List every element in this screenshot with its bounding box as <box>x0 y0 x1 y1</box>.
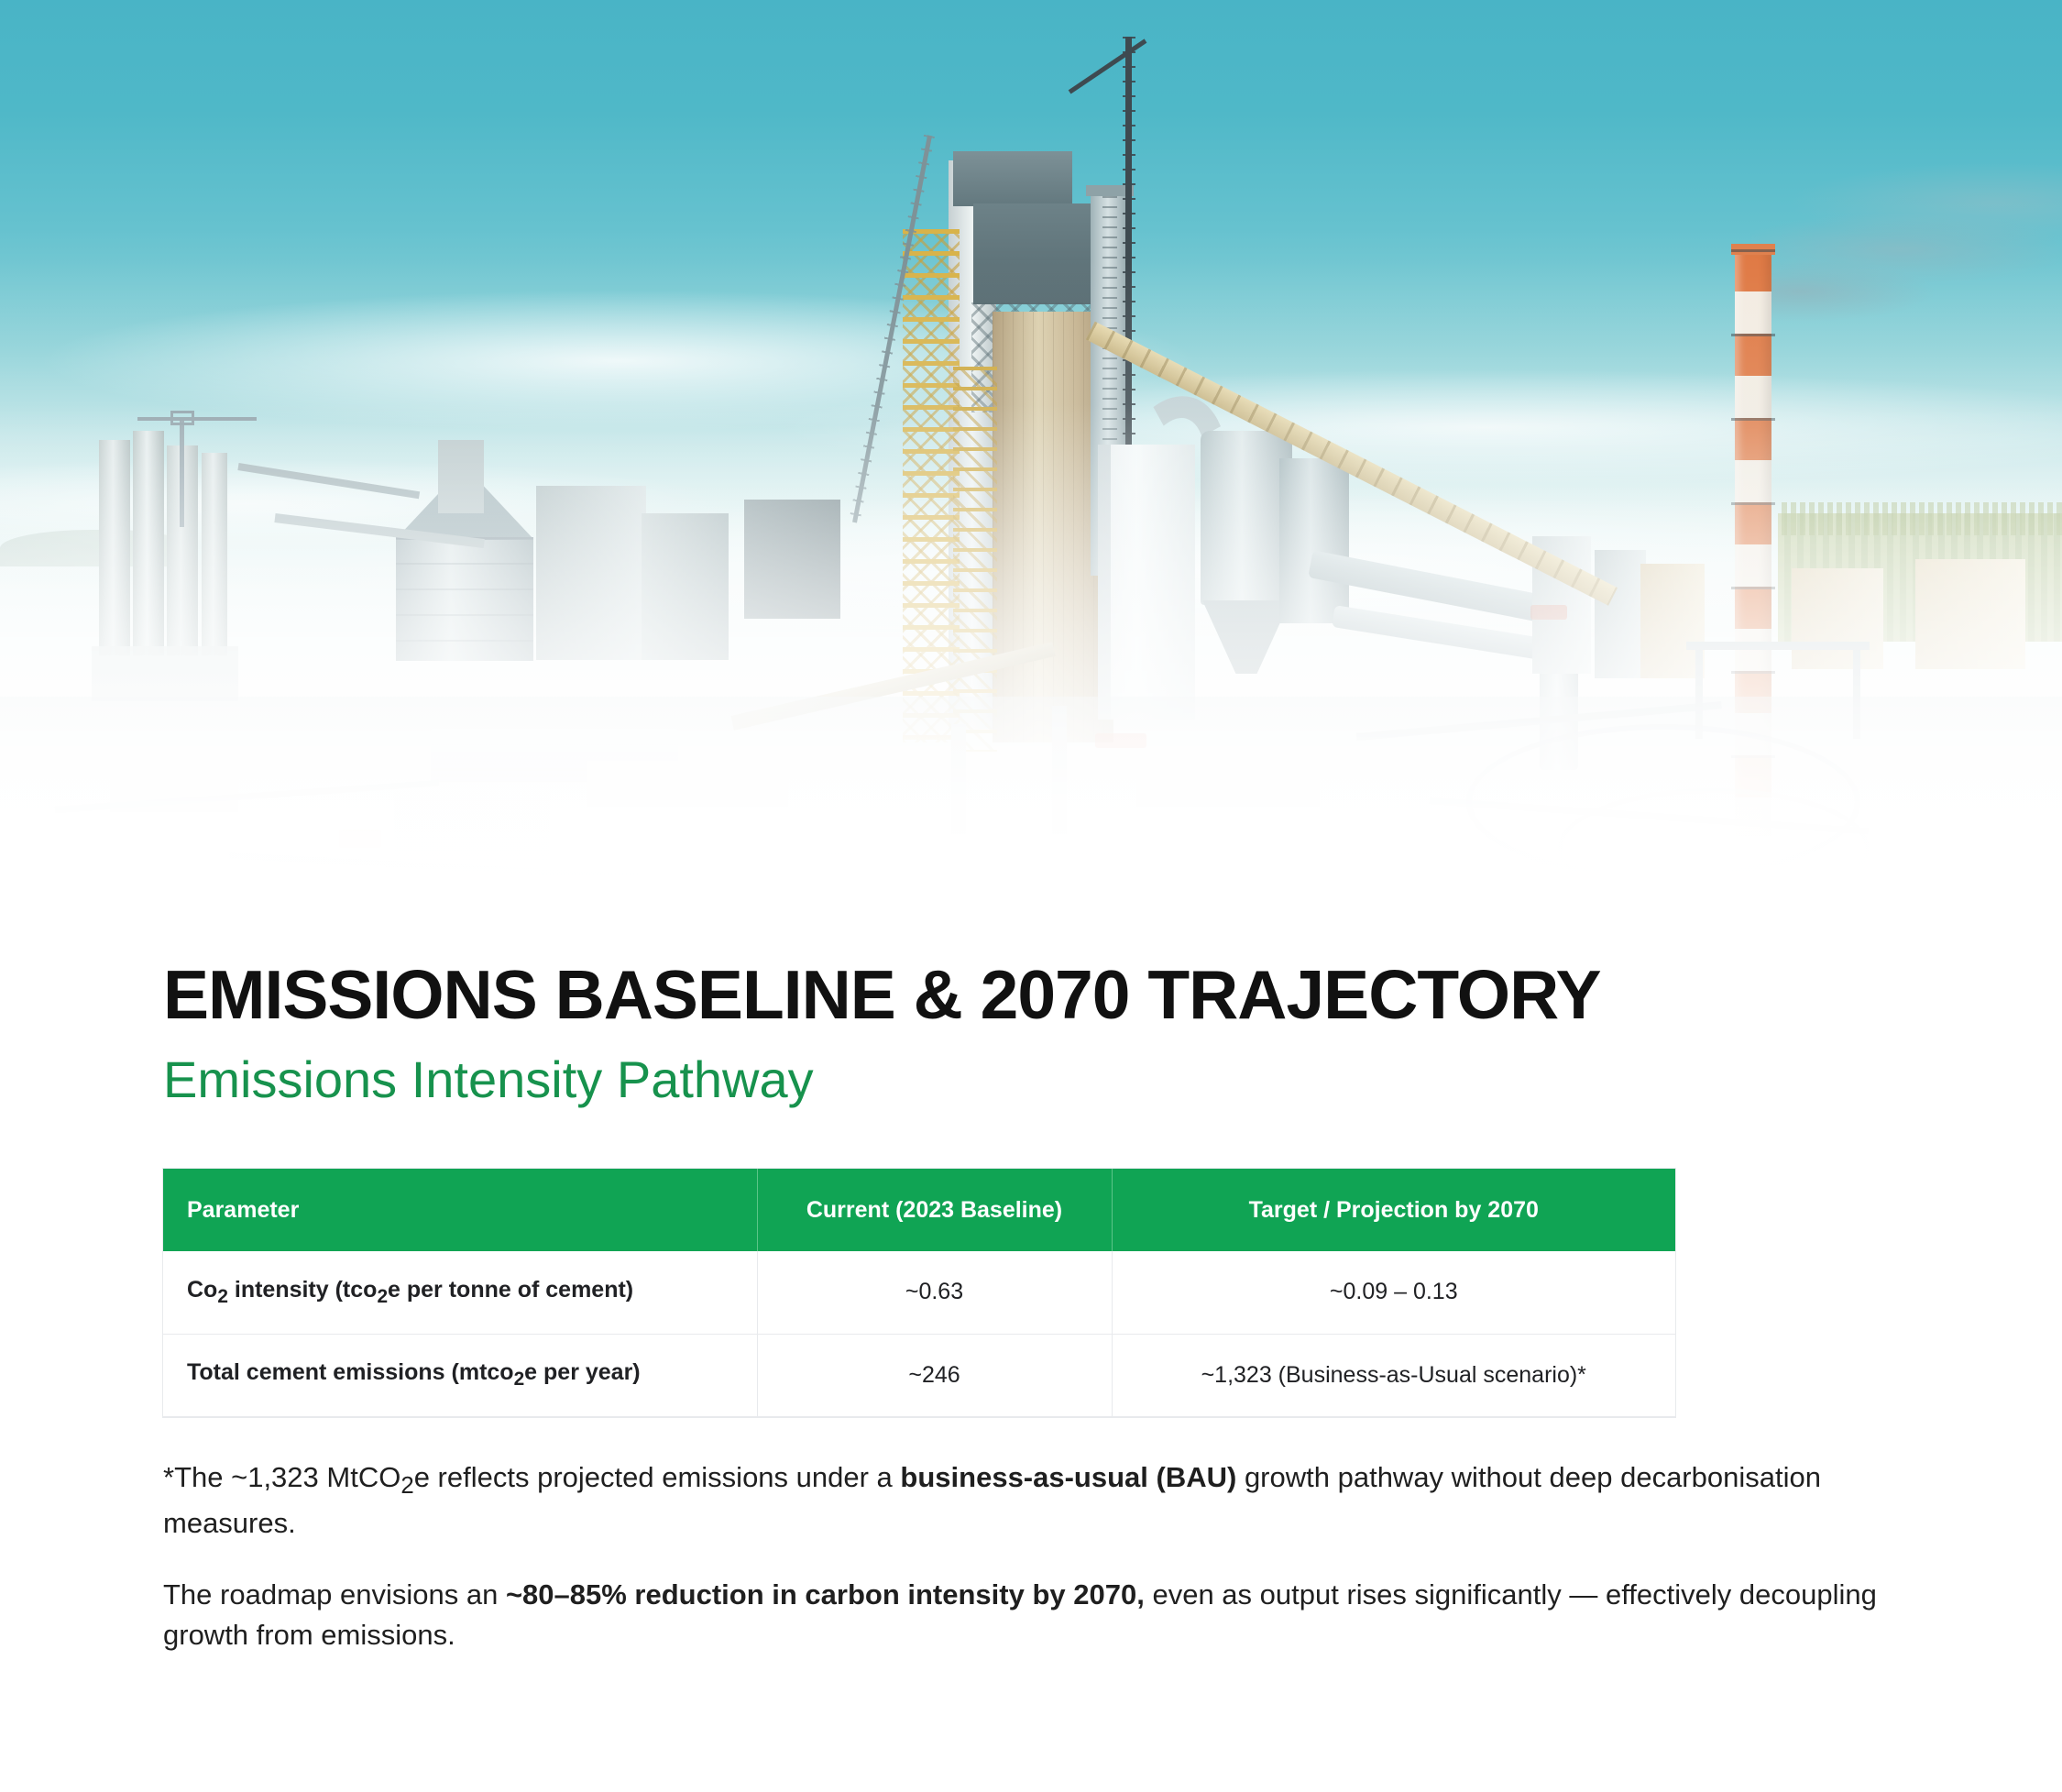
ground-shed-b <box>394 788 550 871</box>
note-roadmap: The roadmap envisions an ~80–85% reducti… <box>163 1575 1909 1655</box>
silo-left-b <box>133 431 164 655</box>
hero-image <box>0 0 2062 917</box>
foreground-pipes <box>825 852 1466 917</box>
machinery-red-a <box>339 830 381 848</box>
gantry-crane <box>1686 642 1870 650</box>
cell-target-co2-intensity: ~0.09 – 0.13 <box>1112 1251 1675 1334</box>
cell-current-co2-intensity: ~0.63 <box>757 1251 1112 1334</box>
notes-block: *The ~1,323 MtCO2e reflects projected em… <box>163 1457 1909 1655</box>
preheater-tower-head2 <box>973 203 1091 304</box>
silo-left-base <box>92 646 238 701</box>
crane-left-cab <box>170 411 194 425</box>
building-dark-block <box>744 500 840 619</box>
ground-shed-c <box>587 761 788 807</box>
row-label-co2-intensity: Co2 intensity (tco2e per tonne of cement… <box>163 1251 757 1334</box>
table-row: Total cement emissions (mtco2e per year)… <box>163 1334 1675 1416</box>
cell-current-total-emissions: ~246 <box>757 1334 1112 1416</box>
scaffold-yellow-2 <box>953 367 997 752</box>
gantry-leg-a <box>1695 647 1703 739</box>
preheater-tower-head <box>953 151 1072 206</box>
building-right-b <box>1595 550 1646 678</box>
crane-left-jib <box>137 417 257 421</box>
silo-left-a <box>99 440 130 655</box>
row-label-total-emissions: Total cement emissions (mtco2e per year) <box>163 1334 757 1416</box>
table-header-row: Parameter Current (2023 Baseline) Target… <box>163 1169 1675 1251</box>
emissions-table: Parameter Current (2023 Baseline) Target… <box>163 1169 1675 1417</box>
table-body: Co2 intensity (tco2e per tonne of cement… <box>163 1251 1675 1416</box>
cyclone-cone <box>1202 600 1290 674</box>
column-header-current: Current (2023 Baseline) <box>757 1169 1112 1251</box>
page-subtitle: Emissions Intensity Pathway <box>163 1054 814 1105</box>
treeline-right-tops <box>1778 502 2062 535</box>
round-silo-rings <box>396 537 533 661</box>
emissions-table-wrapper: Parameter Current (2023 Baseline) Target… <box>163 1169 1675 1417</box>
column-header-parameter: Parameter <box>163 1169 757 1251</box>
silo-left-d <box>202 453 227 655</box>
mill-building-shadow <box>1098 445 1111 720</box>
smoke-plume <box>1750 137 2062 330</box>
mill-building <box>1098 445 1195 720</box>
circular-tank-b <box>1558 788 1870 907</box>
conveyor-left <box>237 463 420 499</box>
building-right-e <box>1915 559 2025 669</box>
table-row: Co2 intensity (tco2e per tonne of cement… <box>163 1251 1675 1334</box>
building-mid-left2 <box>536 486 646 660</box>
column-header-target: Target / Projection by 2070 <box>1112 1169 1675 1251</box>
page-title: EMISSIONS BASELINE & 2070 TRAJECTORY <box>163 961 1601 1029</box>
building-mid-left <box>438 440 484 513</box>
crane-left-mast <box>180 417 184 527</box>
cement-plant-illustration <box>0 0 2062 917</box>
machinery-red-b <box>1095 733 1146 748</box>
cyclone-body-2 <box>1279 458 1349 623</box>
gantry-leg-b <box>1853 647 1860 739</box>
note-bau-footnote: *The ~1,323 MtCO2e reflects projected em… <box>163 1457 1909 1544</box>
crane-center-lattice <box>1123 37 1135 467</box>
building-mid-left3 <box>642 513 729 660</box>
cell-target-total-emissions: ~1,323 (Business-as-Usual scenario)* <box>1112 1334 1675 1416</box>
slide-page: EMISSIONS BASELINE & 2070 TRAJECTORY Emi… <box>0 0 2062 1792</box>
machinery-red-c <box>1530 605 1567 620</box>
cyclone-body <box>1201 431 1292 605</box>
ground-shed-e <box>1136 752 1320 807</box>
building-right-d <box>1792 568 1883 669</box>
